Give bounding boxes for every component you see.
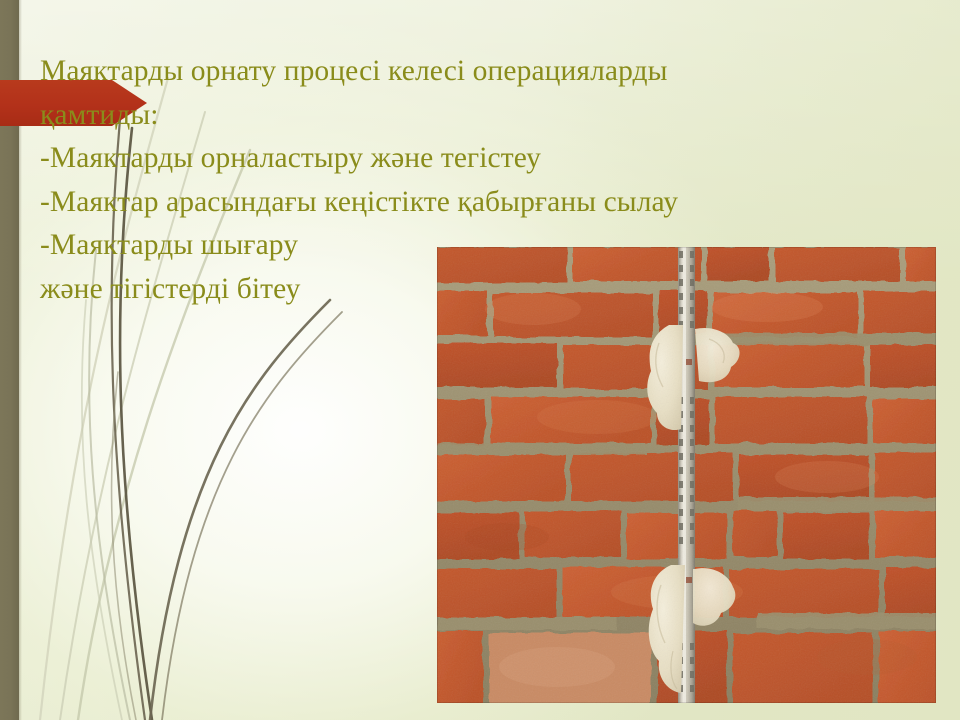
- body-line: қамтиды:: [40, 94, 930, 138]
- body-line: -Маяктар арасындағы кеңістікте қабырғаны…: [40, 181, 930, 225]
- brick-wall-illustration: [437, 247, 936, 703]
- brick-wall-photo: Қызыл кірпіш қабырға, тік металл маяк пр…: [437, 247, 936, 703]
- body-line: -Маяктарды орналастыру және тегістеу: [40, 137, 930, 181]
- slide-canvas: Маяктарды орнату процесі келесі операция…: [0, 0, 960, 720]
- body-line: Маяктарды орнату процесі келесі операция…: [40, 50, 930, 94]
